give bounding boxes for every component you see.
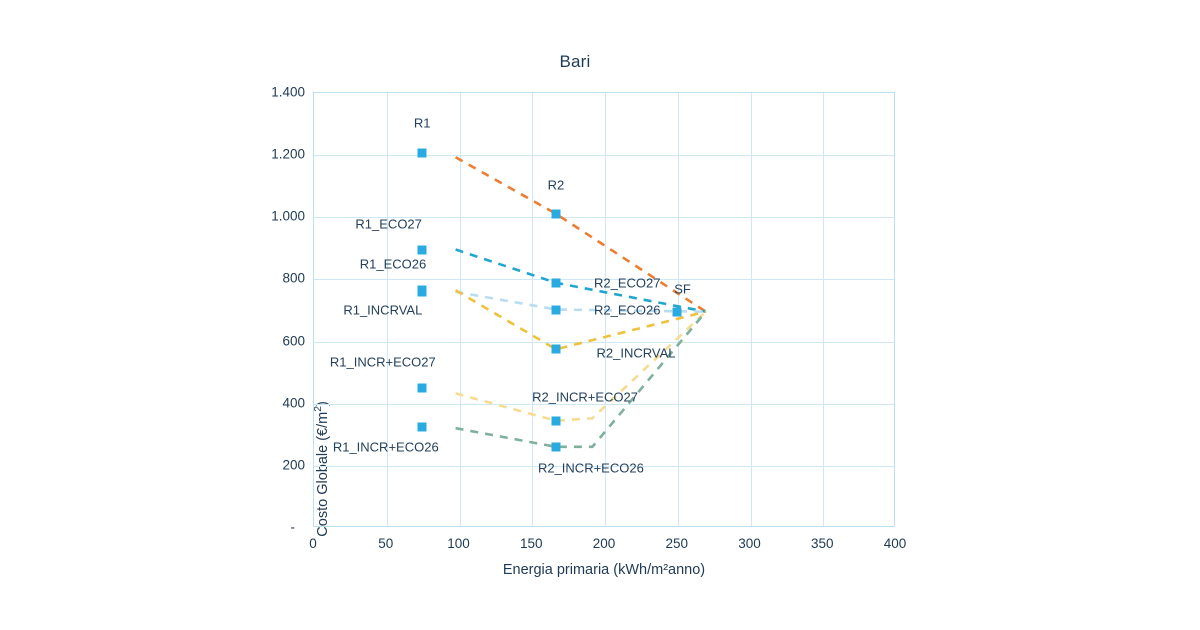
y-axis-tick-label: 1.000 [245,209,305,224]
x-axis-tick-label: 350 [792,536,852,551]
gridline-vertical [532,93,533,526]
chart-container: Bari Costo Globale (€/m2) -2004006008001… [0,0,1200,630]
x-axis-tick-label: 150 [501,536,561,551]
y-axis-tick-label: 200 [245,457,305,472]
gridline-vertical [387,93,388,526]
gridline-horizontal [314,155,894,156]
y-axis-tick-label: 600 [245,333,305,348]
x-axis-tick-label: 50 [356,536,416,551]
x-axis-tick-label: 400 [865,536,925,551]
gridline-vertical [678,93,679,526]
x-axis-tick-label: 0 [283,536,343,551]
gridline-horizontal [314,279,894,280]
gridline-vertical [605,93,606,526]
y-axis-tick-label: 800 [245,271,305,286]
y-axis-tick-label: 1.200 [245,147,305,162]
chart-title: Bari [0,52,1175,72]
y-axis-tick-label: 1.400 [245,85,305,100]
plot-area [313,92,895,527]
y-axis-tick-label: 400 [245,395,305,410]
gridline-horizontal [314,404,894,405]
y-axis-ticks: -2004006008001.0001.2001.400 [243,92,305,527]
x-axis-tick-label: 250 [647,536,707,551]
gridline-vertical [823,93,824,526]
gridline-horizontal [314,466,894,467]
x-axis-title: Energia primaria (kWh/m²anno) [313,562,895,578]
gridline-vertical [460,93,461,526]
x-axis-tick-label: 300 [720,536,780,551]
x-axis-tick-label: 100 [429,536,489,551]
gridline-horizontal [314,217,894,218]
gridline-horizontal [314,342,894,343]
x-axis-tick-label: 200 [574,536,634,551]
x-axis-ticks: 050100150200250300350400 [313,536,895,558]
gridline-vertical [751,93,752,526]
y-axis-tick-label: - [235,520,295,535]
